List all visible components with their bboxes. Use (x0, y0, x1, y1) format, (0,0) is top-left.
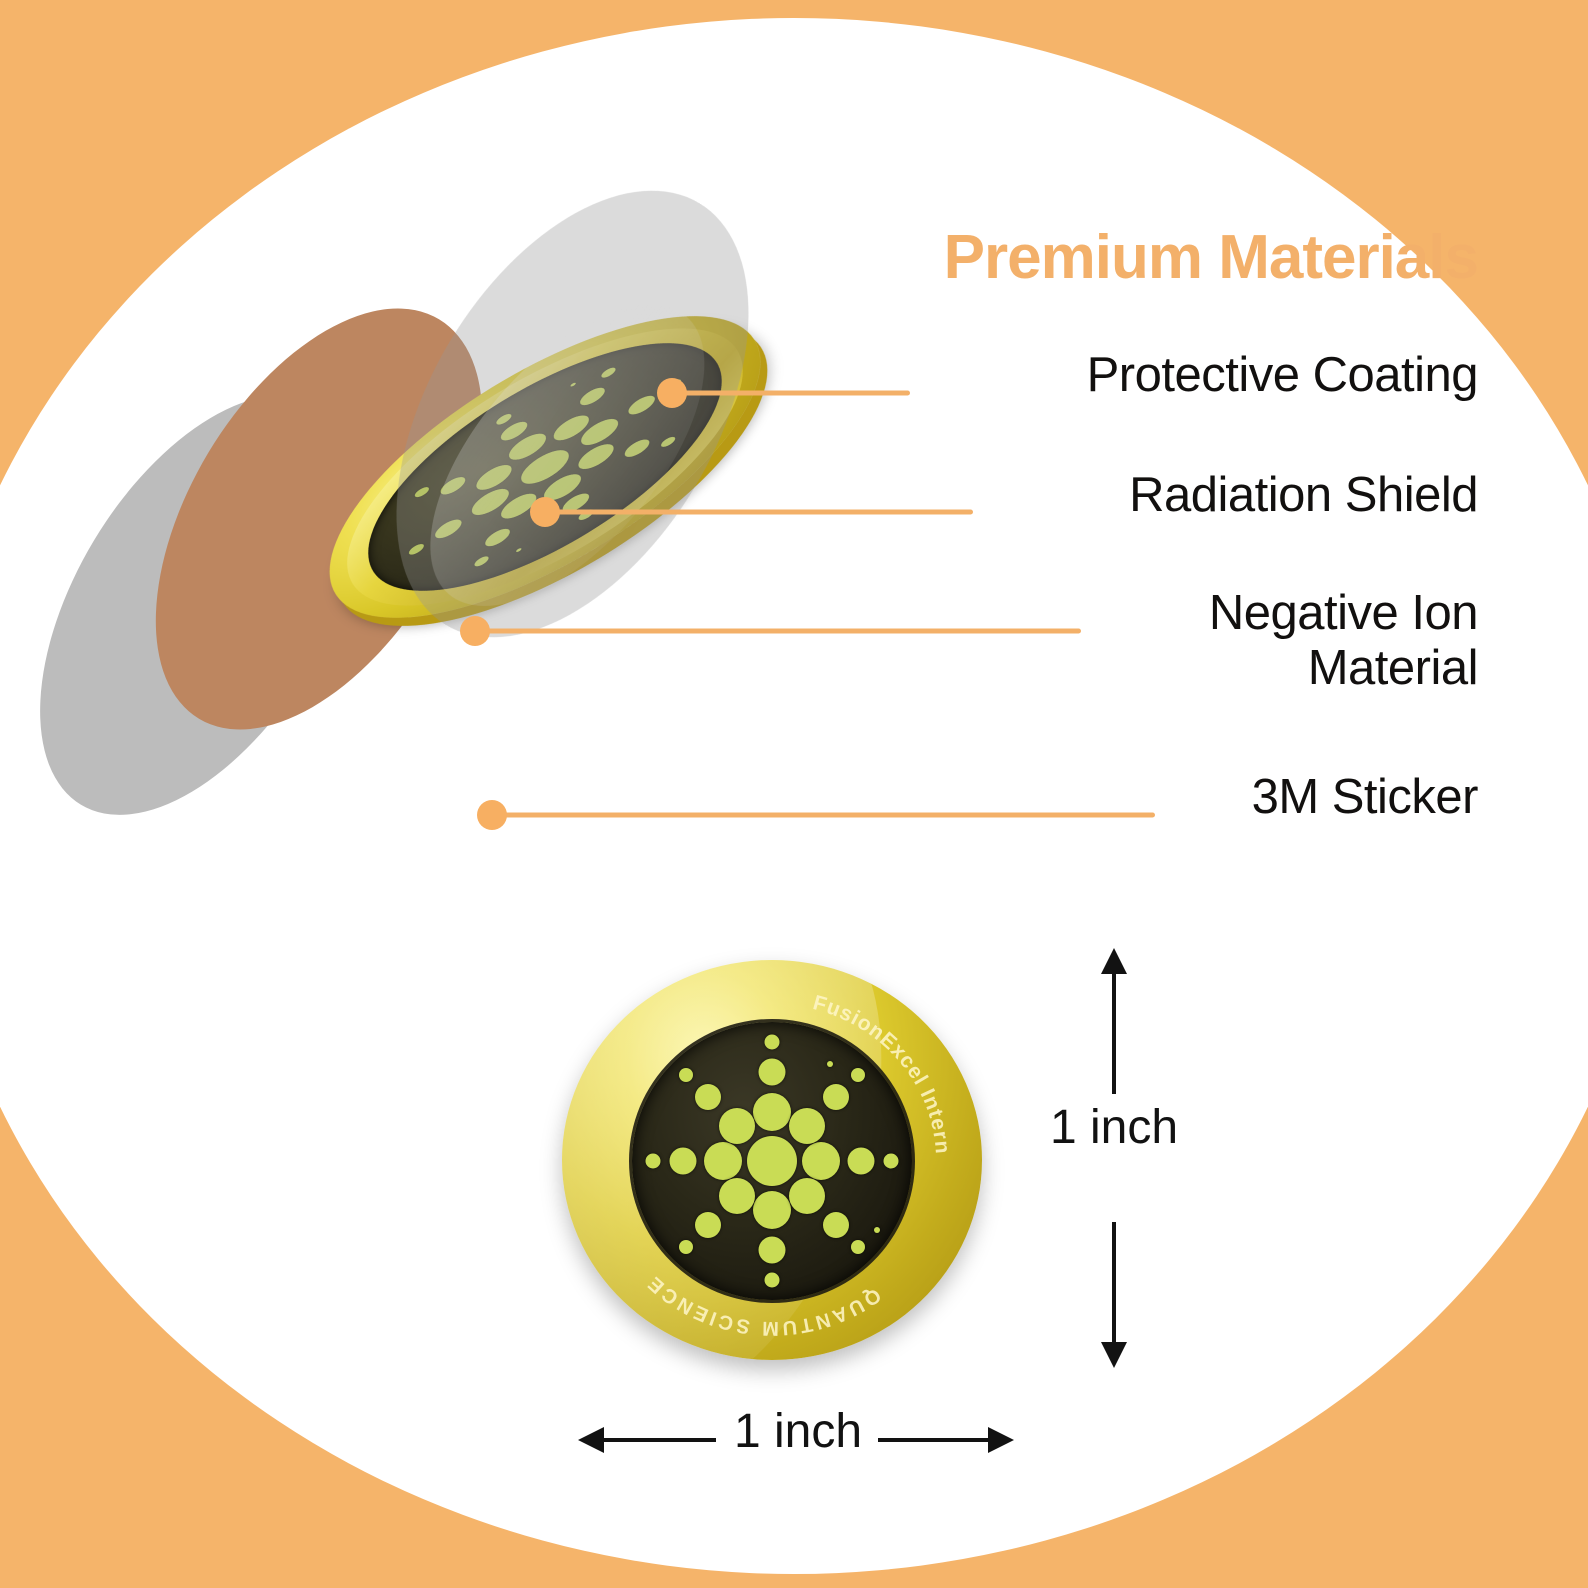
dimension-line-right (878, 1438, 992, 1442)
dimension-height-label: 1 inch (1034, 1100, 1194, 1155)
connector-dot-icon (460, 616, 490, 646)
product-disc: FusionExcel International QUANTUM SCIENC… (562, 960, 982, 1360)
dimension-line-left (602, 1438, 716, 1442)
connector-line (545, 510, 973, 515)
material-label-3m-sticker: 3M Sticker (1252, 770, 1478, 825)
connector-line (475, 629, 1081, 634)
connector-protective-coating (672, 378, 912, 408)
arrow-left-icon (578, 1427, 604, 1453)
material-label-protective-coating: Protective Coating (1087, 348, 1478, 403)
dimension-height: 1 inch (1112, 948, 1116, 1368)
connector-line (672, 391, 910, 396)
dimension-line-bottom (1112, 1222, 1116, 1344)
connector-negative-ion-material (475, 616, 1083, 646)
connector-dot-icon (657, 378, 687, 408)
arrow-right-icon (988, 1427, 1014, 1453)
infographic-stage: Premium Materials Protective Coating Rad… (0, 0, 1588, 1588)
material-label-radiation-shield: Radiation Shield (1129, 468, 1478, 523)
connector-line (492, 813, 1155, 818)
dimension-width-label: 1 inch (716, 1404, 880, 1459)
connector-dot-icon (530, 497, 560, 527)
product-dark-face (632, 1022, 912, 1300)
arrow-down-icon (1101, 1342, 1127, 1368)
dimension-line-top (1112, 972, 1116, 1094)
dimension-width: 1 inch (578, 1438, 1014, 1442)
page-title: Premium Materials (944, 222, 1478, 293)
exploded-layer-stack (0, 0, 900, 900)
material-label-negative-ion-material: Negative Ion Material (1209, 586, 1478, 696)
connector-3m-sticker (492, 800, 1157, 830)
connector-radiation-shield (545, 497, 975, 527)
connector-dot-icon (477, 800, 507, 830)
arrow-up-icon (1101, 948, 1127, 974)
